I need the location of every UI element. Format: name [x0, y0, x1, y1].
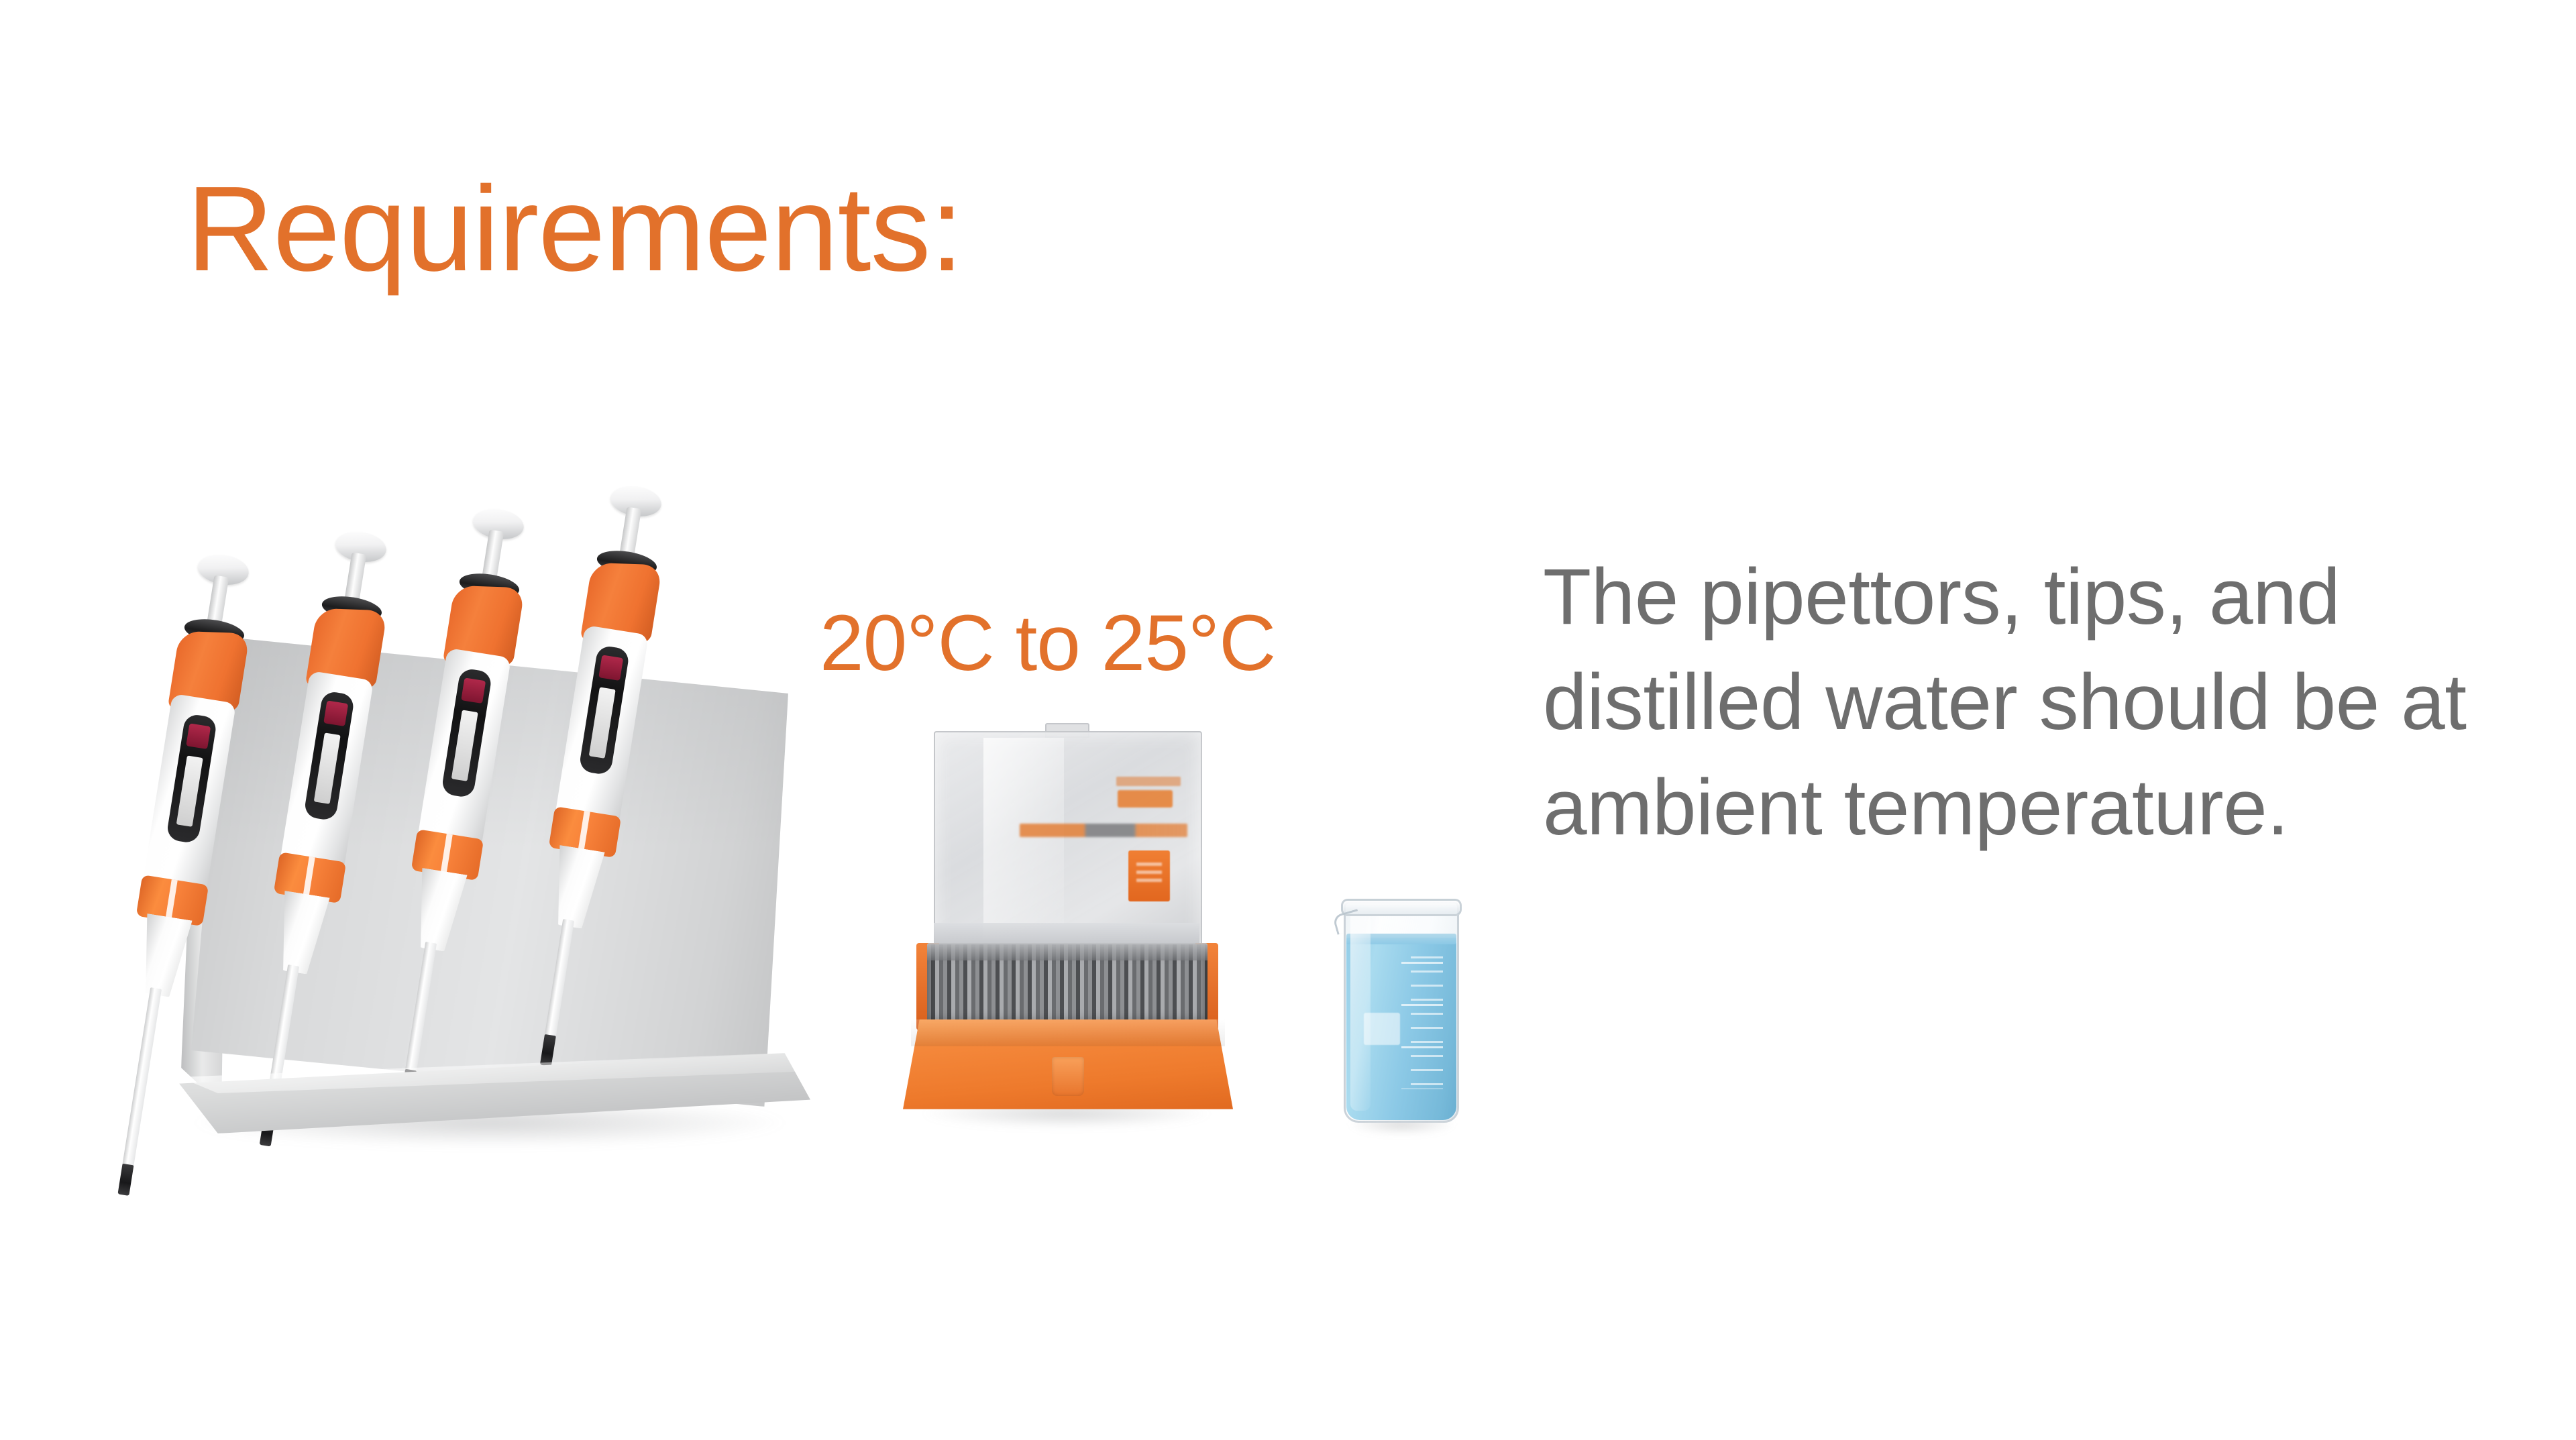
- tipbox-brand-logo: [1118, 790, 1173, 808]
- tipbox-lid-foot: [934, 923, 1199, 946]
- pipettor-display-digit: [323, 700, 348, 726]
- beaker-graduation-major-marks: [1401, 962, 1443, 1089]
- pipettor-tip: [117, 1164, 133, 1196]
- pipettor-display-digit: [186, 723, 211, 749]
- pipettor-lower-cone: [410, 868, 468, 953]
- pipettor-shaft: [122, 987, 162, 1168]
- tipbox-lid-sheen: [983, 738, 1064, 939]
- pipettor-display-digit: [461, 677, 486, 704]
- tipbox-label-text-line: [1020, 824, 1187, 837]
- tipbox-base-front-face: [911, 1019, 1225, 1046]
- tipbox-label-top-line: [1116, 777, 1181, 786]
- pipettor-display-scale: [589, 687, 616, 758]
- beaker-rim: [1341, 899, 1462, 916]
- pipettor-display-scale: [451, 710, 478, 781]
- pipettor-stand-illustration: [161, 516, 872, 1201]
- tipbox-clear-lid: [934, 731, 1202, 947]
- tipbox-tip-rows-top: [927, 943, 1207, 960]
- pipettor-display-scale: [176, 755, 203, 826]
- tipbox-orange-badge: [1128, 850, 1170, 901]
- beaker-illustration: [1332, 892, 1476, 1140]
- body-paragraph: The pipettors, tips, and distilled water…: [1543, 545, 2475, 861]
- pipettor-display-digit: [598, 655, 623, 681]
- pipettor-lower-cone: [272, 891, 330, 976]
- tipbox-latch: [1052, 1057, 1084, 1096]
- pipettor-display-scale: [314, 732, 341, 804]
- pipettor-lower-cone: [135, 913, 193, 999]
- temperature-range-label: 20°C to 25°C: [820, 604, 1275, 683]
- pipettor-lower-cone: [547, 845, 605, 930]
- pipette-tip-box-illustration: [892, 731, 1241, 1133]
- slide-canvas: Requirements:: [0, 0, 2576, 1440]
- beaker-glass-highlight: [1350, 909, 1371, 1111]
- page-title: Requirements:: [186, 169, 963, 290]
